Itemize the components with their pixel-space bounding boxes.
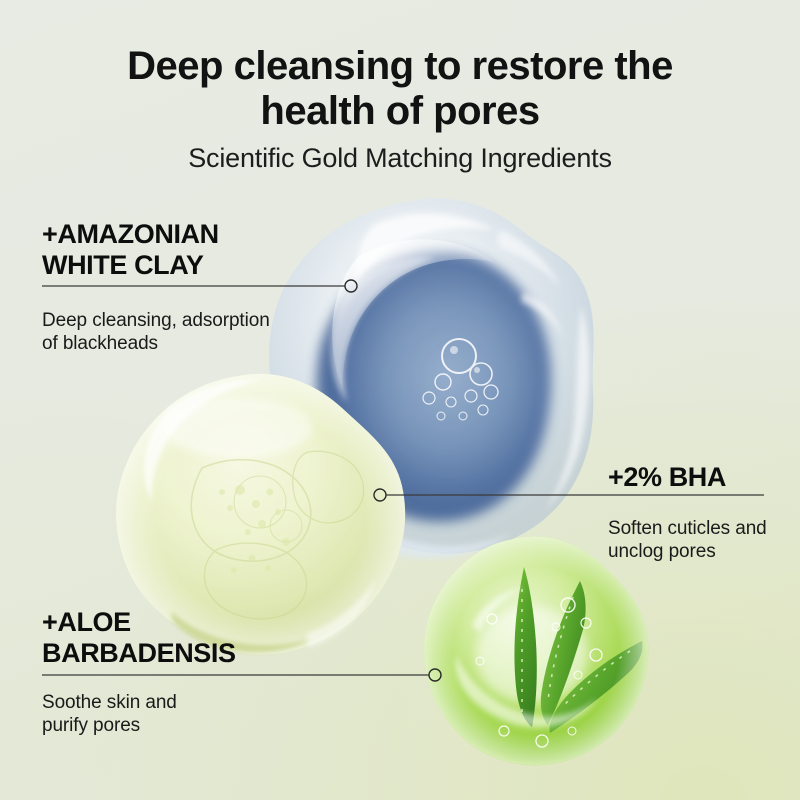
callout-aloe-title: +ALOE BARBADENSIS [42, 607, 352, 669]
callout-aloe-description: Soothe skin and purify pores [42, 691, 352, 737]
page-subtitle: Scientific Gold Matching Ingredients [0, 142, 800, 174]
infographic-poster: Deep cleansing to restore the health of … [0, 0, 800, 800]
page-header: Deep cleansing to restore the health of … [0, 44, 800, 174]
callout-aloe-barbadensis: +ALOE BARBADENSIS Soothe skin and purify… [42, 607, 352, 737]
callout-bha: +2% BHA Soften cuticles and unclog pores [608, 462, 793, 563]
callout-bha-description: Soften cuticles and unclog pores [608, 517, 793, 563]
callout-amazonian-description: Deep cleansing, adsorption of blackheads [42, 309, 352, 355]
page-title-line1: Deep cleansing to restore the [0, 44, 800, 89]
callout-amazonian-title: +AMAZONIAN WHITE CLAY [42, 219, 352, 281]
callout-bha-title: +2% BHA [608, 462, 793, 493]
callout-amazonian-white-clay: +AMAZONIAN WHITE CLAY Deep cleansing, ad… [42, 219, 352, 355]
aloe-blob [420, 535, 650, 767]
page-title-line2: health of pores [0, 89, 800, 134]
